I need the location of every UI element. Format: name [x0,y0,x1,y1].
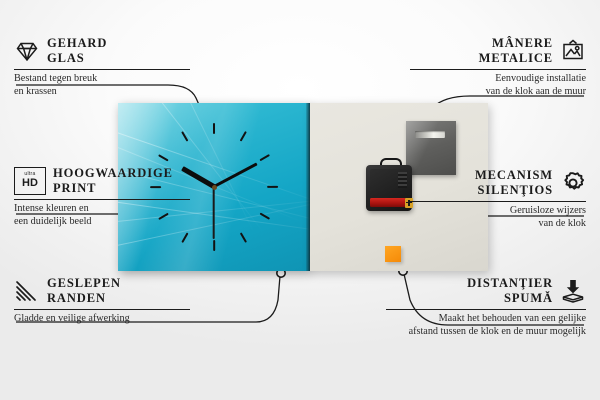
feature-mecanism-silentios: MECANISM SILENŢIOS Geruisloze wijzers va… [410,168,586,230]
feature-title-line1: MECANISM [475,168,553,182]
gear-icon [560,170,586,196]
divider [14,309,190,310]
feature-sub-line2: van de klok [538,218,586,229]
feature-title-line1: MÂNERE [492,36,553,50]
foam-spacer-icon [560,278,586,304]
feature-title-line2: GLAS [47,51,85,65]
bevel-lines-icon [14,278,40,304]
clock-mechanism [366,165,412,211]
ultra-hd-icon: ultra HD [14,167,46,195]
metal-hanger-plate [406,121,456,175]
feature-sub-line2: afstand tussen de klok en de muur mogeli… [409,326,586,337]
clock-tick [213,240,215,251]
feature-title-line2: METALICE [479,51,553,65]
divider [14,199,190,200]
feature-title-line2: SPUMĂ [504,291,553,305]
clock-tick [213,123,215,134]
feature-manere-metalice: MÂNERE METALICE Eenvoudige installatie v… [410,36,586,98]
mechanism-body [366,165,412,211]
hanger-slot [415,131,445,138]
feature-gehard-glas: GEHARD GLAS Bestand tegen breuk en krass… [14,36,190,98]
feature-sub-line2: en krassen [14,86,57,97]
feature-sub-line1: Bestand tegen breuk [14,73,97,84]
feature-sub-line1: Gladde en veilige afwerking [14,313,130,324]
diamond-icon [14,38,40,64]
feature-sub-line1: Eenvoudige installatie [495,73,586,84]
clock-center-cap [212,185,217,190]
feature-sub-line1: Geruisloze wijzers [510,205,586,216]
feature-sub-line2: een duidelijk beeld [14,216,92,227]
infographic-canvas: GEHARD GLAS Bestand tegen breuk en krass… [0,0,600,400]
clock-second-hand [213,187,215,239]
feature-sub-line2: van de klok aan de muur [486,86,586,97]
feature-title-line1: DISTANŢIER [467,276,553,290]
foam-spacer [385,246,401,262]
feature-geslepen-randen: GESLEPEN RANDEN Gladde en veilige afwerk… [14,276,190,326]
clock-tick [267,186,278,188]
feature-title-line1: GEHARD [47,36,107,50]
feature-title-line2: RANDEN [47,291,106,305]
battery [370,198,406,207]
feature-sub-line1: Intense kleuren en [14,203,89,214]
divider [410,69,586,70]
picture-hanger-icon [560,38,586,64]
feature-title-line1: HOOGWAARDIGE [53,166,173,180]
feature-distantier-spuma: DISTANŢIER SPUMĂ Maakt het behouden van … [386,276,586,338]
divider [410,201,586,202]
ultra-hd-big-label: HD [22,178,38,189]
feature-title-line1: GESLEPEN [47,276,121,290]
feature-title-line2: PRINT [53,181,96,195]
divider [386,309,586,310]
feature-title-line2: SILENŢIOS [478,183,554,197]
feature-sub-line1: Maakt het behouden van een gelijke [439,313,586,324]
feature-hoogwaardige-print: ultra HD HOOGWAARDIGE PRINT Intense kleu… [14,166,190,228]
divider [14,69,190,70]
